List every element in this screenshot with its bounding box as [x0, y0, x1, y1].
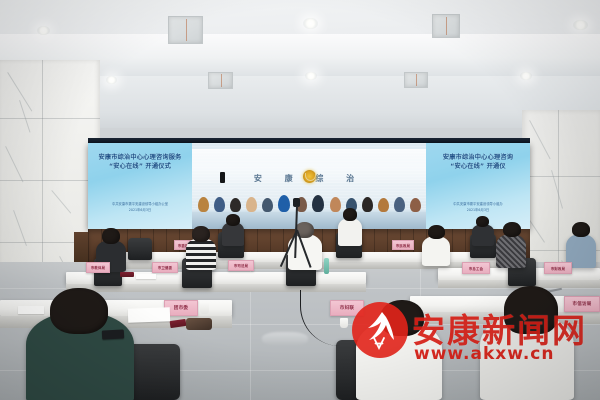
ceiling-downlight	[303, 18, 318, 29]
attendee-head	[503, 222, 521, 237]
placard-text: 市司法局	[234, 263, 248, 268]
placard-text: 团市委	[174, 305, 188, 311]
right-slide-title-line1: 安康市综治中心心理咨询	[426, 153, 530, 162]
feed-attendee	[378, 198, 389, 212]
name-placard: 市总工会	[462, 262, 490, 274]
ceiling-air-vent	[208, 72, 233, 89]
feed-attendee	[278, 195, 290, 212]
attendee-head	[476, 216, 489, 227]
name-placard: 市司法局	[228, 260, 254, 271]
document-sheet	[128, 307, 170, 322]
attendee-striped	[186, 238, 216, 270]
ceiling-air-vent	[168, 16, 203, 44]
right-slide-subtitle-line2: 2021年6月3日	[426, 208, 530, 214]
marble-vein	[5, 146, 23, 182]
feed-attendee	[246, 197, 257, 212]
feed-monitor	[220, 172, 225, 183]
attendee-head	[504, 286, 558, 334]
ceiling-air-vent	[404, 72, 428, 88]
name-placard: 市财政局	[544, 262, 572, 274]
wall-seam	[0, 118, 100, 119]
ceiling-air-vent	[432, 14, 460, 38]
chair	[128, 238, 152, 260]
attendee-head	[50, 288, 108, 334]
right-slide-title: 安康市综治中心心理咨询 “安心在线” 开通仪	[426, 153, 530, 171]
attendee	[338, 218, 362, 246]
attendee-head	[380, 300, 424, 336]
paper-cup	[200, 302, 209, 314]
conference-room-photo: 安康市综治中心心理咨询服务 “安心在线” 开通仪式 中共安康市委平安建设领导小组…	[0, 0, 600, 400]
marble-vein	[13, 210, 27, 246]
feed-attendee	[198, 197, 209, 212]
water-bottle	[324, 258, 329, 274]
ceiling-downlight	[573, 20, 588, 30]
feed-attendee	[394, 197, 405, 212]
ceiling-downlight	[305, 72, 317, 80]
feed-attendee	[312, 195, 324, 212]
ceiling-downlight	[106, 76, 117, 84]
name-placard: 市民政局	[392, 240, 414, 250]
document-sheet	[136, 274, 156, 279]
feed-attendee	[262, 198, 273, 212]
placard-text: 市信访局	[572, 301, 591, 307]
marble-vein	[529, 120, 551, 159]
ceiling-downlight	[37, 26, 50, 35]
right-slide-subtitle: 中共安康市委平安建设领导小组办 2021年6月3日	[426, 202, 530, 213]
left-slide-subtitle-line2: 2021年6月3日	[88, 208, 192, 214]
notebook	[120, 272, 134, 277]
left-slide-title: 安康市综治中心心理咨询服务 “安心在线” 开通仪式	[88, 153, 192, 171]
placard-text: 市民政局	[396, 243, 410, 248]
wall-seam	[522, 176, 600, 177]
placard-text: 市卫健委	[158, 265, 172, 270]
led-video-wall: 安康市综治中心心理咨询服务 “安心在线” 开通仪式 中共安康市委平安建设领导小组…	[88, 143, 530, 229]
document-sheet	[18, 306, 44, 314]
attendee-head	[102, 228, 120, 244]
national-emblem-icon	[303, 170, 316, 183]
right-slide-title-line2: “安心在线” 开通仪	[426, 162, 530, 171]
feed-attendee	[410, 198, 421, 212]
placard-text: 市总工会	[469, 266, 483, 271]
attendee-patterned	[496, 234, 526, 268]
left-slide-title-line2: “安心在线” 开通仪式	[88, 162, 192, 171]
ceiling-downlight	[520, 72, 532, 80]
left-slide-title-line1: 安康市综治中心心理咨询服务	[88, 153, 192, 162]
placard-text: 市财政局	[551, 266, 565, 271]
name-placard: 市信访局	[564, 296, 600, 312]
attendee	[422, 236, 450, 266]
name-placard: 市卫健委	[152, 262, 178, 273]
feed-attendee	[362, 197, 373, 212]
feed-attendee	[214, 197, 225, 212]
attendee-head	[572, 222, 590, 237]
left-slide-subtitle: 中共安康市委平安建设领导小组办公室 2021年6月3日	[88, 202, 192, 213]
attendee-head	[192, 226, 210, 242]
feed-attendee	[230, 198, 241, 212]
floor-reflection	[262, 332, 308, 346]
name-placard: 市教体局	[86, 262, 110, 273]
led-left-slide: 安康市综治中心心理咨询服务 “安心在线” 开通仪式 中共安康市委平安建设领导小组…	[88, 143, 192, 229]
smartphone	[102, 329, 124, 339]
attendee-head	[226, 214, 240, 226]
attendee-head	[343, 208, 357, 221]
attendee-head	[428, 225, 445, 239]
attendee	[472, 224, 494, 246]
ceiling-upper-band	[0, 0, 600, 34]
handbag	[186, 318, 212, 330]
marble-vein	[7, 72, 32, 112]
wall-seam	[0, 180, 100, 181]
feed-attendee	[330, 197, 341, 212]
placard-text: 市教体局	[91, 265, 105, 270]
marble-vein	[51, 190, 71, 214]
